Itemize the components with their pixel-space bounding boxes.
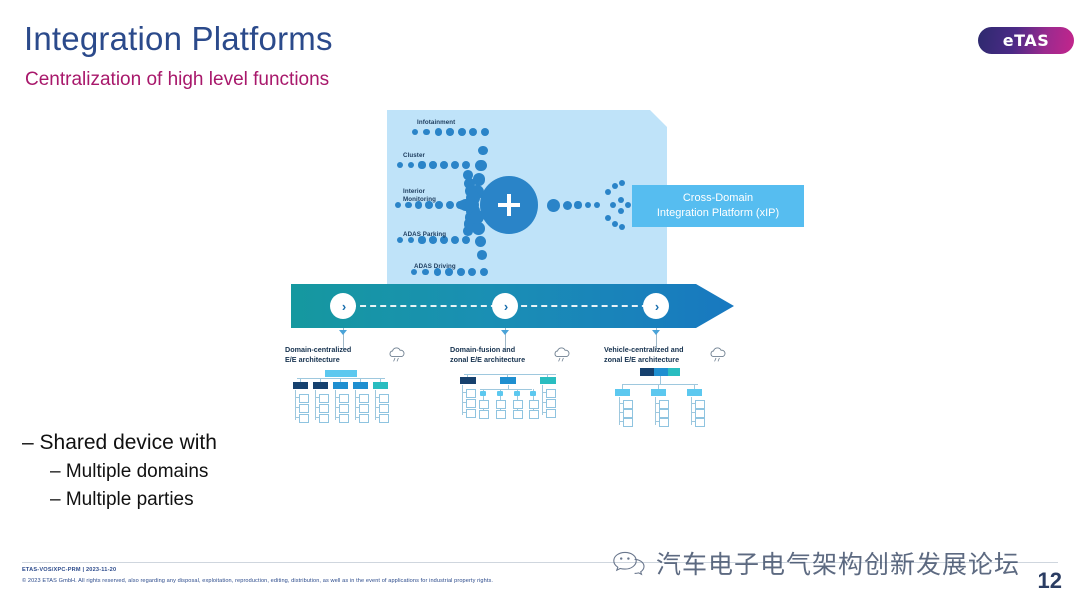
platform-dot xyxy=(594,202,600,208)
tree-zone-0 xyxy=(615,389,630,396)
domain-dot xyxy=(457,268,465,276)
tree-drop xyxy=(508,385,509,389)
tree-leaf xyxy=(529,410,539,419)
tree-leaf xyxy=(299,394,309,403)
tree-leaf xyxy=(479,410,489,419)
tree-leaf xyxy=(359,394,369,403)
step-marker-1[interactable]: › xyxy=(492,293,518,319)
tree-stage-1 xyxy=(452,370,570,428)
tree-leaf xyxy=(299,414,309,423)
page-subtitle: Centralization of high level functions xyxy=(25,70,329,89)
tree-spine xyxy=(335,390,336,420)
tree-leaf xyxy=(466,399,476,408)
domain-label-2: Interior Monitoring xyxy=(403,188,436,204)
wechat-icon xyxy=(612,550,646,576)
tree-leaf xyxy=(339,414,349,423)
tree-spine xyxy=(355,390,356,420)
tree-leaf xyxy=(496,400,506,409)
domain-dot xyxy=(446,201,454,209)
tree-leaf xyxy=(466,409,476,418)
tree-leaf xyxy=(659,409,669,418)
tree-bus xyxy=(464,374,556,375)
tree-ecu-3 xyxy=(353,382,368,389)
etas-logo: eTAS xyxy=(978,27,1074,54)
domain-dot xyxy=(446,128,453,135)
domain-dot xyxy=(475,160,486,171)
tree-leaf xyxy=(695,418,705,427)
step-caret-1 xyxy=(501,330,509,335)
platform-dot xyxy=(574,201,581,208)
domain-dot xyxy=(451,236,459,244)
xip-line-1: Cross-Domain xyxy=(683,191,753,206)
tree-leaf xyxy=(479,400,489,409)
chevron-right-icon: › xyxy=(342,300,346,313)
domain-dot xyxy=(472,222,485,235)
tree-leaf xyxy=(379,404,389,413)
domain-label-0: Infotainment xyxy=(417,119,455,127)
tree-leaf xyxy=(546,399,556,408)
tree-stage-2 xyxy=(608,368,708,428)
step-caret-2 xyxy=(652,330,660,335)
tree-leaf xyxy=(339,394,349,403)
tree-zonal-bus xyxy=(480,389,532,390)
domain-dot xyxy=(435,201,443,209)
page-number: 12 xyxy=(1038,570,1062,592)
platform-dot xyxy=(563,201,572,210)
tree-leaf xyxy=(623,418,633,427)
tree-zone-2 xyxy=(687,389,702,396)
domain-dot xyxy=(435,128,442,135)
tree-head-0 xyxy=(460,377,476,384)
domain-label-1: Cluster xyxy=(403,152,425,160)
tree-leaf xyxy=(623,400,633,409)
tree-drop xyxy=(660,376,661,384)
tree-leaf xyxy=(359,414,369,423)
tree-bus xyxy=(297,378,385,379)
tree-hpc-core-2 xyxy=(668,368,680,376)
cross-domain-platform-box: Cross-Domain Integration Platform (xIP) xyxy=(632,185,804,227)
tree-spine xyxy=(315,390,316,420)
domain-dot xyxy=(477,250,487,260)
plus-icon xyxy=(498,194,520,216)
tree-bus xyxy=(622,384,698,385)
tree-leaf xyxy=(359,404,369,413)
domain-label-4: ADAS Driving xyxy=(414,263,456,271)
tree-leaf xyxy=(695,409,705,418)
tree-leaf xyxy=(339,404,349,413)
tree-root xyxy=(325,370,357,377)
stage-caption-2: Vehicle-centralized and zonal E/E archit… xyxy=(604,345,684,366)
tree-spine xyxy=(375,390,376,420)
bullet-list: – Shared device with – Multiple domains … xyxy=(22,428,352,515)
tree-leaf xyxy=(319,404,329,413)
tree-leaf xyxy=(623,409,633,418)
domain-dot xyxy=(475,236,486,247)
tree-spine xyxy=(542,385,543,415)
domain-dot xyxy=(440,161,448,169)
tree-leaf xyxy=(513,410,523,419)
tree-leaf xyxy=(695,400,705,409)
tree-leaf xyxy=(659,418,669,427)
cloud-rain-icon xyxy=(708,347,728,363)
tree-leaf xyxy=(466,389,476,398)
tree-ecu-1 xyxy=(313,382,328,389)
step-caret-0 xyxy=(339,330,347,335)
tree-ecu-2 xyxy=(333,382,348,389)
tree-leaf xyxy=(546,409,556,418)
tree-leaf xyxy=(496,410,506,419)
tree-leaf xyxy=(659,400,669,409)
stage-caption-0: Domain-centralized E/E architecture xyxy=(285,345,351,366)
tree-stage-0 xyxy=(285,370,415,428)
tree-ecu-0 xyxy=(293,382,308,389)
footer-copyright: © 2023 ETAS GmbH. All rights reserved, a… xyxy=(22,578,493,584)
bullet-level1: – Shared device with xyxy=(22,428,352,458)
cloud-rain-icon xyxy=(387,347,407,363)
domain-dot xyxy=(429,161,436,168)
tree-spine xyxy=(462,385,463,415)
bullet-level2-0: – Multiple domains xyxy=(22,458,352,487)
footer-meta: ETAS-VOS/XPC-PRM | 2023-11-20 xyxy=(22,567,116,573)
stage-caption-1: Domain-fusion and zonal E/E architecture xyxy=(450,345,525,366)
tree-leaf xyxy=(299,404,309,413)
tree-head-2 xyxy=(540,377,556,384)
tree-leaf xyxy=(546,389,556,398)
tree-zone-1 xyxy=(651,389,666,396)
chevron-right-icon: › xyxy=(504,300,508,313)
domain-dot xyxy=(458,128,466,136)
tree-head-1 xyxy=(500,377,516,384)
watermark-text: 汽车电子电气架构创新发展论坛 xyxy=(656,545,1020,581)
bullet-level2-1: – Multiple parties xyxy=(22,486,352,515)
domain-dot xyxy=(418,161,425,168)
platform-dot xyxy=(547,199,560,212)
xip-line-2: Integration Platform (xIP) xyxy=(657,206,779,221)
tree-leaf xyxy=(319,414,329,423)
step-marker-2[interactable]: › xyxy=(643,293,669,319)
tree-leaf xyxy=(379,414,389,423)
tree-ecu-4 xyxy=(373,382,388,389)
domain-label-3: ADAS Parking xyxy=(403,231,446,239)
etas-logo-text: eTAS xyxy=(1003,33,1049,49)
slide-canvas: Integration Platforms Centralization of … xyxy=(0,0,1080,608)
cloud-rain-icon xyxy=(552,347,572,363)
tree-hpc-core-0 xyxy=(640,368,654,376)
domain-dot xyxy=(451,161,459,169)
tree-leaf xyxy=(513,400,523,409)
tree-leaf xyxy=(319,394,329,403)
tree-spine xyxy=(295,390,296,420)
tree-leaf xyxy=(529,400,539,409)
tree-leaf xyxy=(379,394,389,403)
step-marker-0[interactable]: › xyxy=(330,293,356,319)
page-title: Integration Platforms xyxy=(24,22,333,55)
tree-hpc-core-1 xyxy=(654,368,668,376)
central-hub xyxy=(480,176,538,234)
chevron-right-icon: › xyxy=(655,300,659,313)
wechat-watermark: 汽车电子电气架构创新发展论坛 xyxy=(612,545,1020,581)
